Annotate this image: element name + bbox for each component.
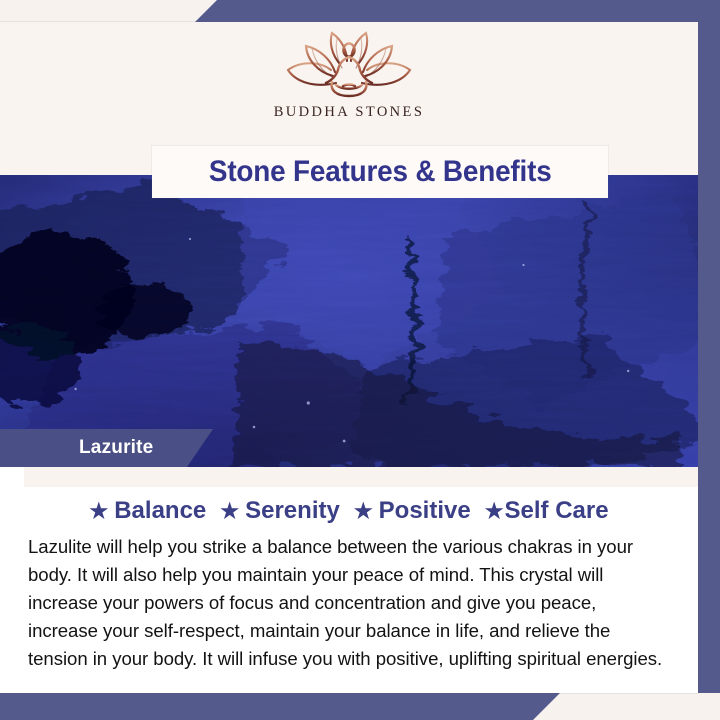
stone-name-text: Lazurite [79, 437, 153, 459]
star-icon: ★ [89, 501, 108, 522]
brand-logo: BUDDHA STONES [0, 28, 698, 121]
benefit-label: Serenity [245, 497, 340, 525]
lazurite-texture-illustration [0, 175, 698, 467]
benefit-label: Balance [114, 497, 206, 525]
divider-strip [24, 467, 698, 487]
star-icon: ★ [354, 501, 373, 522]
content-card: BUDDHA STONES Stone Features & Benefits [0, 22, 698, 693]
benefit-item: ★ Positive [354, 497, 471, 525]
stone-photo: Lazurite [0, 175, 698, 467]
decorative-top-band [195, 0, 720, 22]
lotus-meditation-icon [274, 28, 424, 102]
stone-name-label: Lazurite [0, 429, 213, 467]
brand-wordmark: BUDDHA STONES [274, 104, 425, 121]
decorative-bottom-band [0, 693, 560, 720]
infographic-page: BUDDHA STONES Stone Features & Benefits [0, 0, 720, 720]
benefit-label: Self Care [505, 497, 609, 525]
star-icon: ★ [220, 501, 239, 522]
star-icon: ★ [485, 501, 504, 522]
page-title: Stone Features & Benefits [209, 155, 552, 189]
page-title-plaque: Stone Features & Benefits [152, 146, 608, 198]
benefit-item: ★ Balance [89, 497, 206, 525]
description-text: Lazulite will help you strike a balance … [28, 533, 670, 673]
benefits-list: ★ Balance ★ Serenity ★ Positive ★ Self C… [0, 497, 698, 525]
benefit-label: Positive [379, 497, 471, 525]
benefit-item: ★ Self Care [485, 497, 609, 525]
benefit-item: ★ Serenity [220, 497, 340, 525]
decorative-right-band [698, 0, 720, 693]
description-section: ★ Balance ★ Serenity ★ Positive ★ Self C… [0, 467, 698, 693]
